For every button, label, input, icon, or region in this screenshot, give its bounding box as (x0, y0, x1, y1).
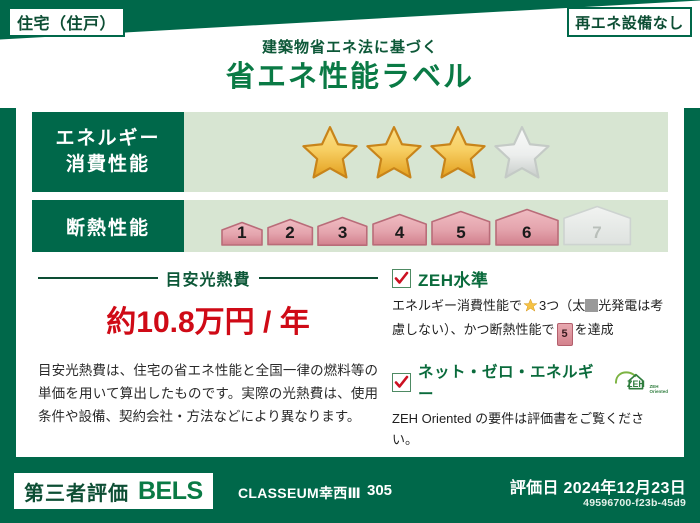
zeh-standard-title: ZEH水準 (418, 266, 489, 291)
svg-text:ZEH: ZEH (628, 379, 646, 389)
zeh-oriented-description: ZEH Oriented の要件は評価書をご覧ください。 (392, 408, 668, 450)
unit-number: 305 (367, 482, 392, 499)
header-title-group: 建築物省エネ法に基づく 省エネ性能ラベル (0, 38, 700, 95)
star-icon (523, 301, 538, 316)
energy-label-line2: 消費性能 (66, 152, 150, 178)
zeh-desc-part2: 3つ（太 (539, 298, 585, 313)
zeh-item-oriented: ネット・ゼロ・エネルギー ZEH ZEH Oriented ZEH Ori (392, 360, 668, 450)
zeh-logo-icon: ZEH ZEH Oriented (613, 370, 668, 394)
insulation-rating-scale: 1234567 (184, 200, 668, 252)
footer-bar: 第三者評価 BELS CLASSEUM幸西Ⅲ 305 評価日 2024年12月2… (0, 461, 700, 523)
check-icon (392, 269, 411, 288)
energy-performance-label: 住宅（住戸） 再エネ設備なし 建築物省エネ法に基づく 省エネ性能ラベル エネルギ… (0, 0, 700, 523)
evaluation-date: 評価日 2024年12月23日 (510, 474, 686, 498)
zeh-block: ZEH水準 エネルギー消費性能で3つ（太光発電は考慮しない）、かつ断熱性能で5を… (392, 266, 668, 464)
heading-rule-left (38, 277, 158, 279)
stars-container (301, 124, 551, 180)
header-title: 省エネ性能ラベル (0, 59, 700, 95)
house-icon: 2 (266, 218, 314, 247)
energy-performance-row: エネルギー 消費性能 (32, 112, 668, 192)
badge-renewable-equipment: 再エネ設備なし (567, 7, 692, 37)
star-icon (365, 124, 423, 180)
energy-label-line1: エネルギー (55, 126, 160, 152)
house-icon: 6 (494, 208, 560, 247)
utility-cost-heading: 目安光熱費 (166, 266, 251, 290)
utility-cost-amount: 約10.8万円 / 年 (38, 297, 378, 341)
zeh-standard-description: エネルギー消費性能で3つ（太光発電は考慮しない）、かつ断熱性能で5を達成 (392, 295, 668, 346)
insulation-performance-row: 断熱性能 1234567 (32, 200, 668, 252)
zeh-oriented-title: ネット・ゼロ・エネルギー (418, 360, 604, 404)
utility-cost-note: 目安光熱費は、住宅の省エネ性能と全国一律の燃料等の単価を用いて算出したものです。… (38, 359, 378, 428)
insulation-grade-badge: 5 (557, 323, 573, 346)
zeh-item-standard: ZEH水準 エネルギー消費性能で3つ（太光発電は考慮しない）、かつ断熱性能で5を… (392, 266, 668, 346)
energy-star-rating (184, 112, 668, 192)
zeh-desc-part1: エネルギー消費性能で (392, 298, 522, 313)
star-icon (493, 124, 551, 180)
house-icon: 5 (430, 210, 492, 246)
utility-cost-block: 目安光熱費 約10.8万円 / 年 目安光熱費は、住宅の省エネ性能と全国一律の燃… (38, 266, 378, 428)
zeh-standard-title-row: ZEH水準 (392, 266, 668, 291)
energy-performance-label: エネルギー 消費性能 (32, 112, 184, 192)
header-subtitle: 建築物省エネ法に基づく (0, 38, 700, 58)
bels-plate: 第三者評価 BELS (14, 473, 213, 509)
houses-container: 1234567 (220, 205, 632, 247)
house-icon: 7 (562, 205, 632, 247)
third-party-evaluation-label: 第三者評価 (24, 477, 129, 506)
insulation-performance-label: 断熱性能 (32, 200, 184, 252)
house-icon: 3 (316, 216, 369, 247)
star-icon (301, 124, 359, 180)
badge-building-type: 住宅（住戸） (8, 7, 125, 37)
zeh-logo-subtext: ZEH Oriented (649, 384, 668, 394)
label-body-card: エネルギー 消費性能 断熱性能 1234567 目安光熱費 約10.8万円 / (16, 96, 684, 457)
zeh-desc-part4: を達成 (575, 322, 614, 337)
house-icon: 1 (220, 221, 264, 247)
redacted-character (585, 299, 598, 312)
star-icon (429, 124, 487, 180)
insulation-label-text: 断熱性能 (66, 213, 150, 240)
check-icon (392, 373, 411, 392)
zeh-oriented-title-row: ネット・ゼロ・エネルギー ZEH ZEH Oriented (392, 360, 668, 404)
evaluation-id: 49596700-f23b-45d9 (583, 497, 686, 509)
utility-cost-heading-row: 目安光熱費 (38, 266, 378, 290)
house-icon: 4 (371, 213, 428, 247)
bels-logo-text: BELS (138, 477, 203, 506)
project-name: CLASSEUM幸西Ⅲ (238, 483, 361, 503)
heading-rule-right (259, 277, 379, 279)
